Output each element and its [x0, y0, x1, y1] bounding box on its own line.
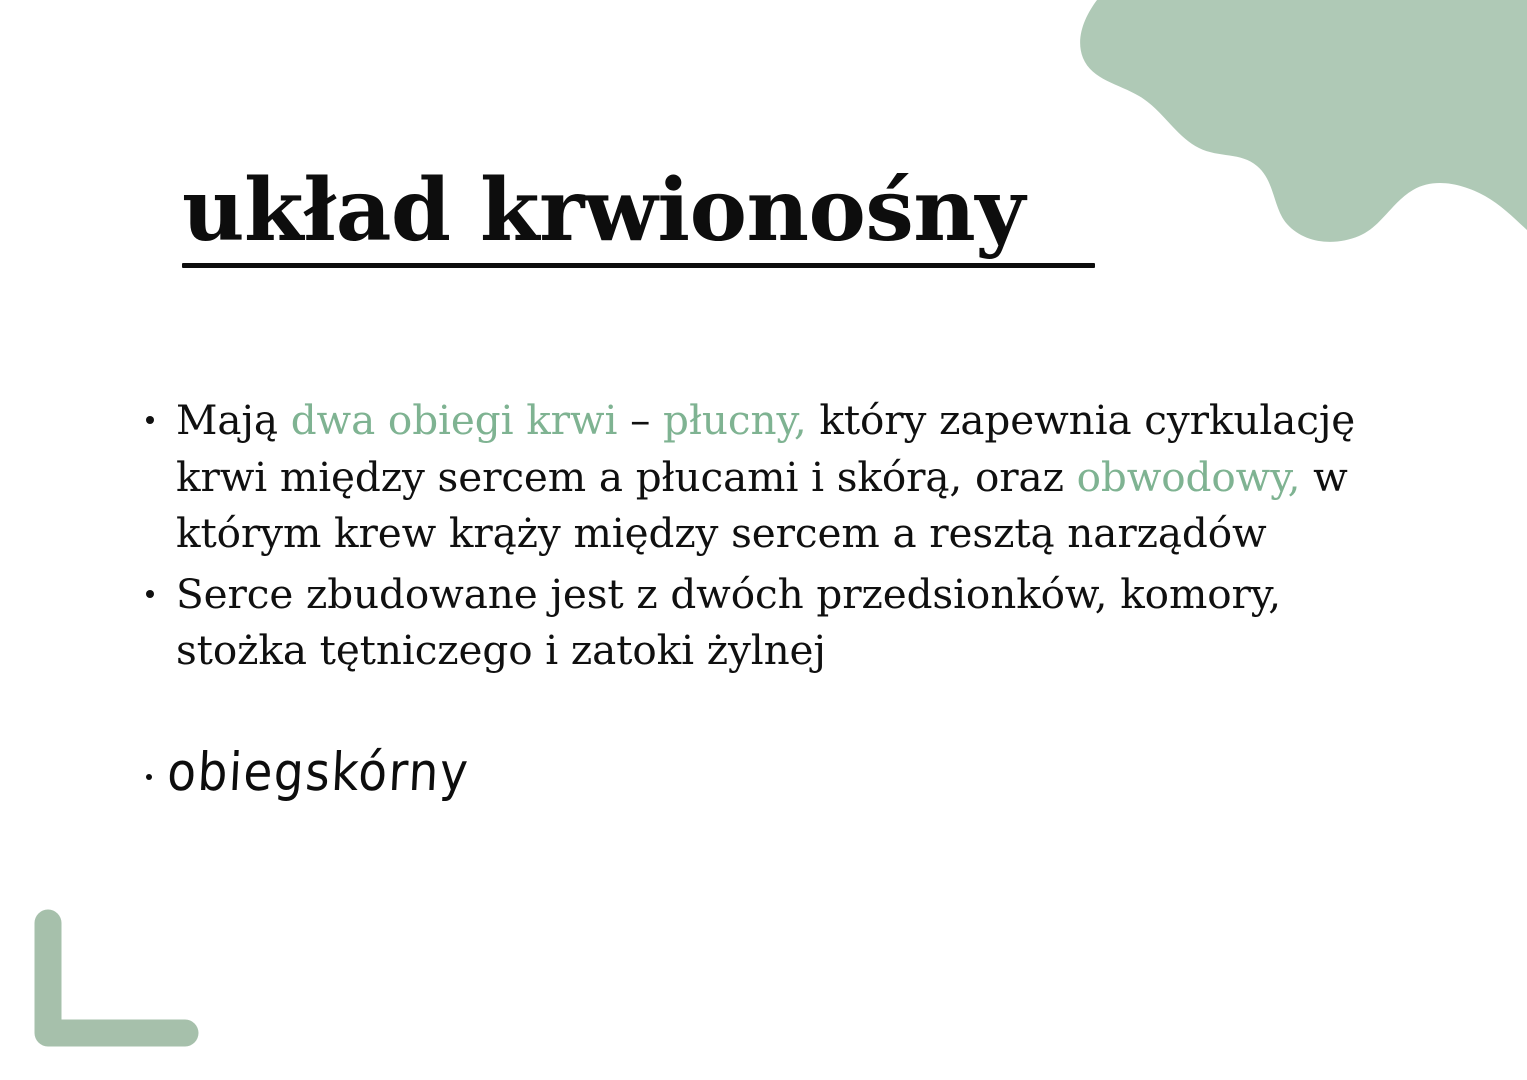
- title-underline-rule: [182, 263, 1095, 268]
- bullet-text-segment-accent: płucny,: [663, 396, 807, 444]
- handwritten-annotation: obiegskórny: [146, 752, 468, 799]
- bullet-text-segment-accent: dwa obiegi krwi: [291, 396, 618, 444]
- corner-bracket-decoration: [34, 909, 199, 1047]
- bullet-text-segment-accent: obwodowy,: [1077, 453, 1301, 501]
- list-item: Mają dwa obiegi krwi – płucny, który zap…: [142, 392, 1372, 562]
- handwritten-note-word1: obieg: [166, 746, 307, 799]
- slide-canvas: układ krwionośny Mają dwa obiegi krwi – …: [0, 0, 1527, 1080]
- bullet-text-segment: –: [617, 396, 663, 444]
- handwritten-bullet-dot: [146, 774, 152, 780]
- page-title: układ krwionośny: [182, 168, 1182, 254]
- bullet-text-segment: Mają: [176, 396, 291, 444]
- bullet-text-segment: Serce zbudowane jest z dwóch przedsionkó…: [176, 570, 1281, 675]
- corner-bracket-L-icon: [48, 923, 185, 1033]
- body-content: Mają dwa obiegi krwi – płucny, który zap…: [142, 392, 1372, 683]
- list-item: Serce zbudowane jest z dwóch przedsionkó…: [142, 566, 1372, 679]
- page-title-block: układ krwionośny: [182, 168, 1182, 268]
- organic-blob-dark: [1272, 0, 1527, 167]
- handwritten-note-word2: skórny: [304, 746, 471, 799]
- bullet-list: Mają dwa obiegi krwi – płucny, który zap…: [142, 392, 1372, 679]
